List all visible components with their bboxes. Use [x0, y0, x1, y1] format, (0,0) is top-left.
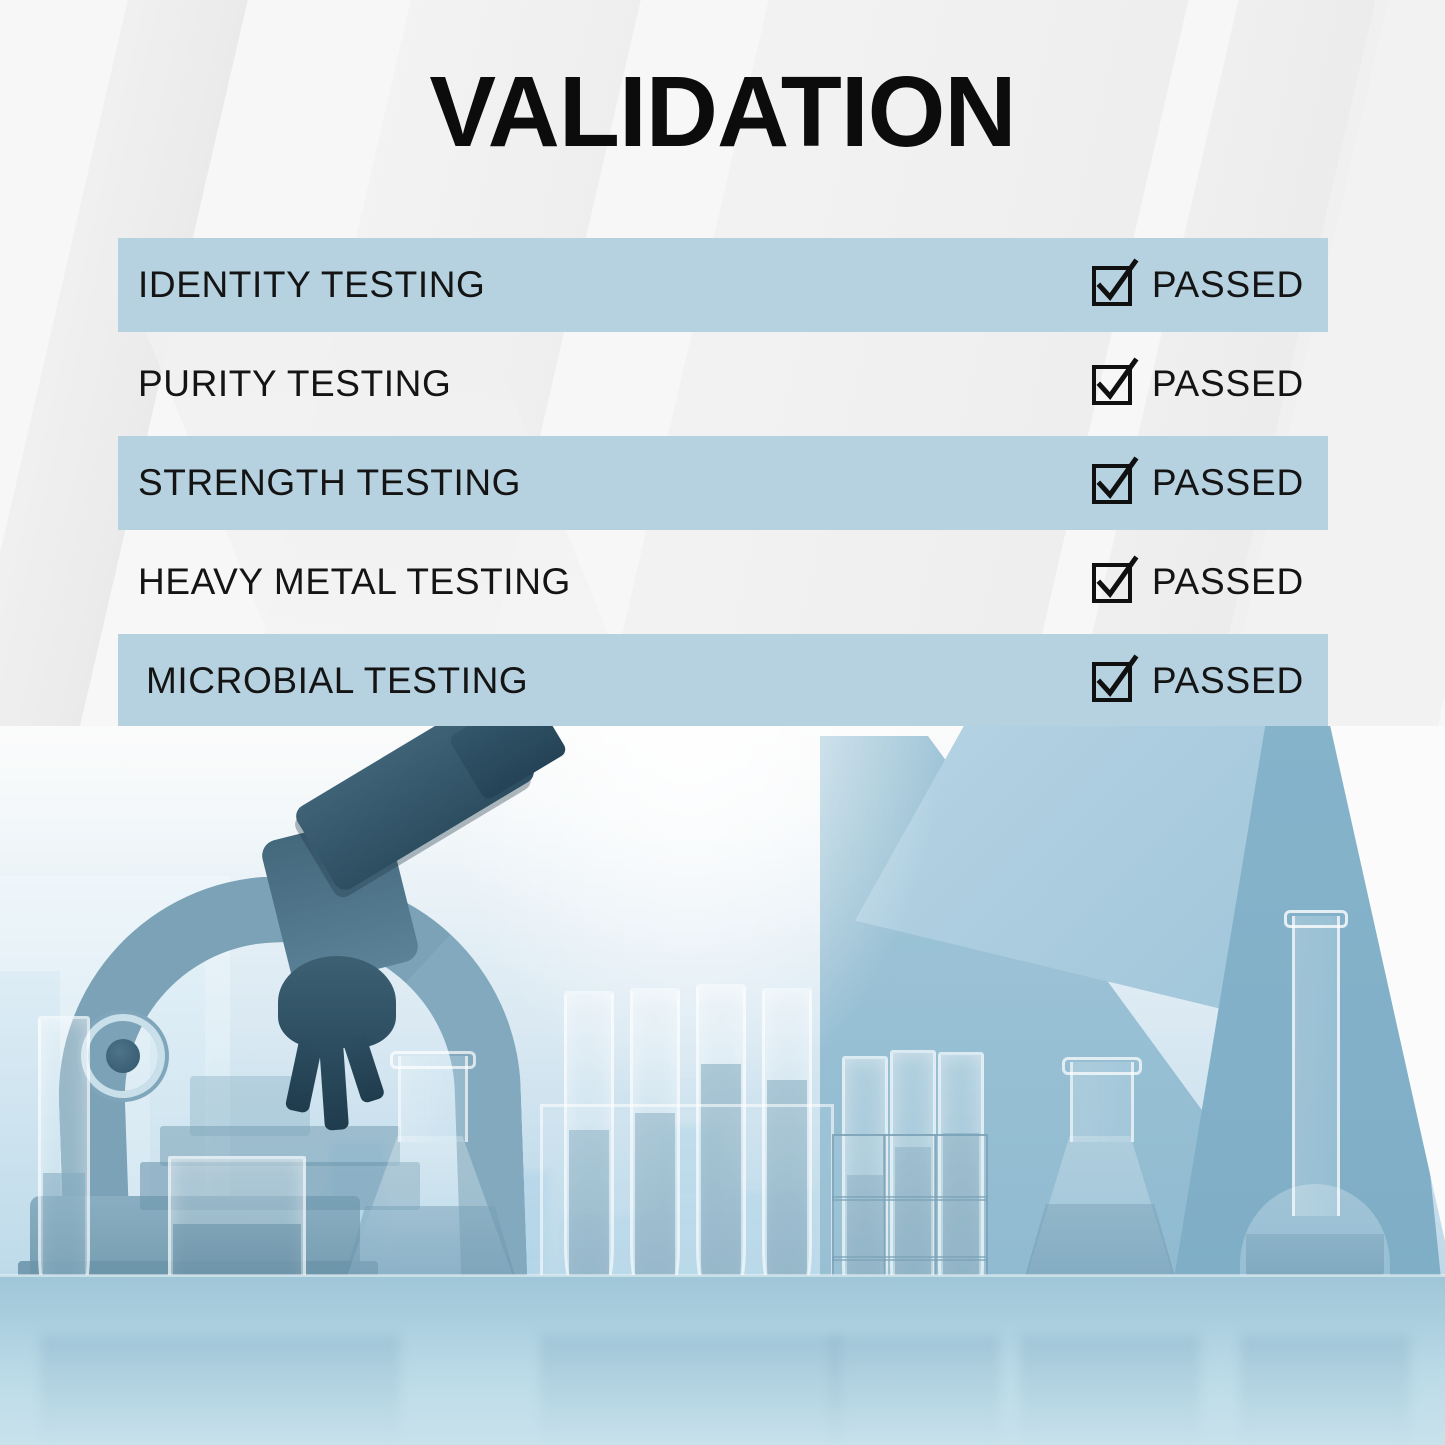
checkbox-checked-icon[interactable]: [1092, 363, 1134, 405]
row-status: PASSED: [1092, 634, 1304, 728]
status-badge: PASSED: [1152, 561, 1304, 603]
surface-reflection: [540, 1335, 840, 1445]
checkbox-checked-icon[interactable]: [1092, 561, 1134, 603]
test-name-label: IDENTITY TESTING: [138, 264, 485, 306]
table-row[interactable]: STRENGTH TESTING PASSED: [118, 436, 1328, 530]
test-name-label: STRENGTH TESTING: [138, 462, 521, 504]
surface-reflection: [1020, 1335, 1200, 1445]
volumetric-flask: [1240, 916, 1390, 1316]
status-badge: PASSED: [1152, 462, 1304, 504]
checkbox-checked-icon[interactable]: [1092, 264, 1134, 306]
table-row[interactable]: HEAVY METAL TESTING PASSED: [118, 535, 1328, 629]
test-name-label: HEAVY METAL TESTING: [138, 561, 571, 603]
row-status: PASSED: [1092, 238, 1304, 332]
surface-reflection: [40, 1335, 400, 1445]
bench-edge: [0, 1274, 1445, 1277]
row-status: PASSED: [1092, 535, 1304, 629]
flask-lip: [1284, 910, 1348, 928]
flask-lip: [1062, 1057, 1142, 1075]
test-name-label: PURITY TESTING: [138, 363, 451, 405]
table-row[interactable]: IDENTITY TESTING PASSED: [118, 238, 1328, 332]
laboratory-photo: [0, 726, 1445, 1445]
row-status: PASSED: [1092, 436, 1304, 530]
rack-rail: [832, 1196, 988, 1201]
poster-canvas: VALIDATION IDENTITY TESTING PASSED PURIT…: [0, 0, 1445, 1445]
rack-rail: [832, 1256, 988, 1261]
page-title: VALIDATION: [0, 62, 1445, 162]
focus-knob-center: [106, 1039, 140, 1073]
status-badge: PASSED: [1152, 264, 1304, 306]
table-row[interactable]: PURITY TESTING PASSED: [118, 337, 1328, 431]
validation-table: IDENTITY TESTING PASSED PURITY TESTING: [118, 238, 1328, 733]
row-status: PASSED: [1092, 337, 1304, 431]
checkbox-checked-icon[interactable]: [1092, 660, 1134, 702]
status-badge: PASSED: [1152, 363, 1304, 405]
surface-reflection: [1240, 1335, 1410, 1445]
status-badge: PASSED: [1152, 660, 1304, 702]
flask-stem: [1292, 916, 1340, 1216]
test-name-label: MICROBIAL TESTING: [146, 660, 528, 702]
surface-reflection: [830, 1335, 1000, 1445]
checkbox-checked-icon[interactable]: [1092, 462, 1134, 504]
microscope-nosepiece: [278, 956, 396, 1048]
flask-lip: [390, 1051, 476, 1069]
table-row[interactable]: MICROBIAL TESTING PASSED: [118, 634, 1328, 728]
